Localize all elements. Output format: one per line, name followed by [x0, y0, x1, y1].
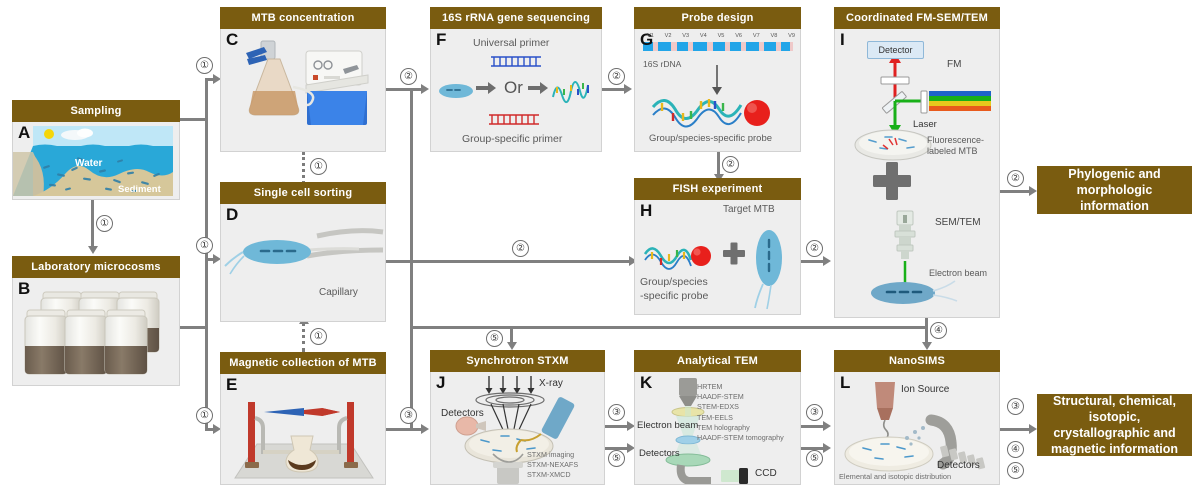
label-laser: Laser: [913, 119, 937, 130]
arrowhead-k-to-l-a: [823, 421, 831, 431]
connector-j-to-k-a: [605, 425, 629, 428]
label-electron-beam: Electron beam: [929, 268, 987, 278]
panel-tag-i: I: [840, 31, 845, 48]
panel-tag-j: J: [436, 374, 445, 391]
label-stxm-detectors: Detectors: [441, 408, 484, 419]
panel-mtb-concentration: MTB concentration C: [220, 7, 386, 152]
label-universal-primer: Universal primer: [473, 37, 549, 49]
label-sem-tem: SEM/TEM: [935, 217, 981, 228]
label-fluor-line1: Fluorescence-: [927, 135, 984, 145]
panel-tag-e: E: [226, 376, 237, 393]
step-number-c-to-d: ①: [310, 158, 327, 175]
step-number-to-e: ①: [196, 407, 213, 424]
step-number-to-j: ③: [400, 407, 417, 424]
label-target-mtb: Target MTB: [723, 204, 775, 215]
capillary-sorting-illustration: [221, 204, 385, 322]
panel-tag-d: D: [226, 206, 238, 223]
label-fluor-line2: labeled MTB: [927, 146, 978, 156]
output-phylogenic-text: Phylogenic and morphologic information: [1041, 166, 1188, 214]
region-v9: V9: [788, 33, 795, 39]
arrowhead-to-f: [421, 84, 429, 94]
label-xray: X-ray: [539, 378, 563, 389]
step-number-k-to-l-3: ③: [806, 404, 823, 421]
label-group-primer: Group-specific primer: [462, 133, 562, 145]
step-number-i-to-j: ⑤: [486, 330, 503, 347]
connector-bus-to-h: [410, 260, 632, 263]
connector-b-right: [180, 326, 208, 329]
tem-method-list: HRTEM HAADF-STEM STEM-EDXS TEM-EELS TEM …: [697, 382, 784, 443]
arrowhead-a-to-b: [88, 246, 98, 254]
detector-box: Detector: [867, 41, 924, 59]
panel-tem-title: Analytical TEM: [634, 350, 801, 372]
connector-e-to-d-dotted: [302, 322, 305, 352]
label-16s-rdna: 16S rDNA: [643, 59, 681, 69]
panel-analytical-tem: Analytical TEM K HRTEM HAADF-STEM STEM-E…: [634, 350, 801, 485]
step-number-f-to-g: ②: [608, 68, 625, 85]
region-v2: V2: [665, 33, 672, 39]
label-probe-line2: -specific probe: [640, 290, 708, 302]
panel-lab-microcosms: Laboratory microcosms B: [12, 256, 180, 386]
step-number-h-to-i: ②: [806, 240, 823, 257]
step-number-i-to-out1: ②: [1007, 170, 1024, 187]
stxm-method-list: STXM imaging STXM-NEXAFS STXM-XMCD: [527, 450, 578, 481]
connector-a-right: [180, 118, 208, 121]
panel-tag-h: H: [640, 202, 652, 219]
panel-lab-body: B: [12, 278, 180, 386]
panel-lab-title: Laboratory microcosms: [12, 256, 180, 278]
panel-nanosims-title: NanoSIMS: [834, 350, 1000, 372]
panel-tag-b: B: [18, 280, 30, 297]
connector-c-to-d-dotted: [302, 152, 305, 184]
arrowhead-i-to-out1: [1029, 186, 1037, 196]
panel-tag-f: F: [436, 31, 446, 48]
connector-c-right: [385, 88, 413, 91]
panel-sampling-title: Sampling: [12, 100, 180, 122]
region-v4: V4: [700, 33, 707, 39]
output-box-phylogenic: Phylogenic and morphologic information: [1037, 166, 1192, 214]
step-number-j-to-k-5: ⑤: [608, 450, 625, 467]
panel-magnetic-collection: Magnetic collection of MTB E: [220, 352, 386, 485]
region-v3: V3: [682, 33, 689, 39]
panel-nanosims-body: L Ion Source Detectors Elemental and iso…: [834, 372, 1000, 485]
label-fm: FM: [947, 59, 961, 70]
connector-a-to-b: [91, 200, 94, 248]
region-v5: V5: [718, 33, 725, 39]
panel-sorting-title: Single cell sorting: [220, 182, 386, 204]
label-sediment: Sediment: [118, 184, 161, 195]
panel-fmsemtem-title: Coordinated FM-SEM/TEM: [834, 7, 1000, 29]
step-number-out2-3: ③: [1007, 398, 1024, 415]
connector-e-right: [385, 428, 413, 431]
panel-fish-body: H Target MTB: [634, 200, 801, 315]
label-detector: Detector: [878, 45, 912, 55]
step-number-a-to-b: ①: [96, 215, 113, 232]
panel-coordinated-fm-sem-tem: Coordinated FM-SEM/TEM I Detector FM Las…: [834, 7, 1000, 318]
step-number-e-to-d: ①: [310, 328, 327, 345]
connector-d-right: [385, 260, 413, 263]
panel-fmsemtem-body: I Detector FM Laser Fluorescence- labele…: [834, 29, 1000, 318]
panel-probe-design: Probe design G V1 V2 V3 V4 V5 V6 V7 V8 V…: [634, 7, 801, 152]
panel-tag-c: C: [226, 31, 238, 48]
panel-mtb-conc-title: MTB concentration: [220, 7, 386, 29]
label-or: Or: [504, 78, 523, 98]
label-tem-detectors: Detectors: [639, 448, 680, 459]
connector-i-to-j-h: [510, 326, 926, 329]
connector-h-to-i: [801, 260, 825, 263]
label-nanosims-detectors: Detectors: [937, 460, 980, 471]
step-number-out2-4: ④: [1007, 441, 1024, 458]
connector-l-to-out2: [1000, 428, 1032, 431]
arrowhead-i-to-j: [507, 342, 517, 350]
panel-single-cell-sorting: Single cell sorting D Capillary: [220, 182, 386, 322]
variable-region-labels: V1 V2 V3 V4 V5 V6 V7 V8 V9: [647, 33, 795, 39]
label-water: Water: [75, 158, 102, 169]
label-capillary: Capillary: [319, 287, 358, 298]
step-number-k-to-l-5: ⑤: [806, 450, 823, 467]
step-number-g-to-h: ②: [722, 156, 739, 173]
connector-k-to-l-a: [801, 425, 825, 428]
arrowhead-l-to-out2: [1029, 424, 1037, 434]
panel-sampling-body: A: [12, 122, 180, 200]
panel-fish-title: FISH experiment: [634, 178, 801, 200]
panel-magnetic-body: E: [220, 374, 386, 485]
panel-seq-body: F Universal primer Group-specific primer…: [430, 29, 602, 152]
step-number-bus-to-h: ②: [512, 240, 529, 257]
panel-fish-experiment: FISH experiment H Target MTB: [634, 178, 801, 315]
output-structural-text: Structural, chemical, isotopic, crystall…: [1041, 393, 1188, 457]
microcosm-jars-illustration: [13, 278, 179, 386]
panel-tem-body: K HRTEM HAADF-STEM STEM-EDXS TEM-EELS TE…: [634, 372, 801, 485]
panel-mtb-conc-body: C: [220, 29, 386, 152]
connector-i-to-out1: [1000, 190, 1032, 193]
panel-magnetic-title: Magnetic collection of MTB: [220, 352, 386, 374]
connector-mid-to-5line: [410, 326, 510, 329]
panel-nanosims: NanoSIMS L Ion Source Detectors Elementa…: [834, 350, 1000, 485]
label-group-species-probe: Group/species-specific probe: [649, 133, 772, 144]
panel-sorting-body: D Capillary: [220, 204, 386, 322]
label-ccd: CCD: [755, 468, 777, 479]
label-probe-line1: Group/species: [640, 276, 708, 288]
step-number-out2-5: ⑤: [1007, 462, 1024, 479]
step-number-to-f: ②: [400, 68, 417, 85]
arrowhead-k-to-l-b: [823, 443, 831, 453]
panel-stxm-body: J X-ray Detectors STXM imaging STXM-NEXA…: [430, 372, 605, 485]
connector-f-to-g: [602, 88, 626, 91]
label-tem-electron-beam: Electron beam: [637, 420, 698, 431]
output-box-structural: Structural, chemical, isotopic, crystall…: [1037, 394, 1192, 456]
step-number-to-d: ①: [196, 237, 213, 254]
label-ion-source: Ion Source: [901, 384, 949, 395]
filtration-apparatus-illustration: [221, 29, 385, 152]
magnet-setup-illustration: [221, 374, 385, 485]
panel-seq-title: 16S rRNA gene sequencing: [430, 7, 602, 29]
step-number-j-to-k-3: ③: [608, 404, 625, 421]
step-number-to-c: ①: [196, 57, 213, 74]
panel-probe-title: Probe design: [634, 7, 801, 29]
label-nanosims-caption: Elemental and isotopic distribution: [839, 472, 951, 481]
arrowhead-h-to-i: [823, 256, 831, 266]
workflow-diagram: Sampling A: [0, 0, 1200, 492]
panel-sampling: Sampling A: [12, 100, 180, 200]
arrowhead-to-j: [421, 424, 429, 434]
panel-tag-l: L: [840, 374, 850, 391]
panel-stxm-title: Synchrotron STXM: [430, 350, 605, 372]
step-number-i-to-l: ④: [930, 322, 947, 339]
arrowhead-f-to-g: [624, 84, 632, 94]
panel-probe-body: G V1 V2 V3 V4 V5 V6 V7 V8 V9: [634, 29, 801, 152]
panel-tag-a: A: [18, 124, 30, 141]
region-v8: V8: [770, 33, 777, 39]
panel-synchrotron-stxm: Synchrotron STXM J X-ray Detectors STXM …: [430, 350, 605, 485]
region-v7: V7: [753, 33, 760, 39]
region-v6: V6: [735, 33, 742, 39]
panel-tag-k: K: [640, 374, 652, 391]
arrowhead-i-to-l: [922, 342, 932, 350]
panel-16s-sequencing: 16S rRNA gene sequencing F Universal pri…: [430, 7, 602, 152]
region-v1: V1: [647, 33, 654, 39]
